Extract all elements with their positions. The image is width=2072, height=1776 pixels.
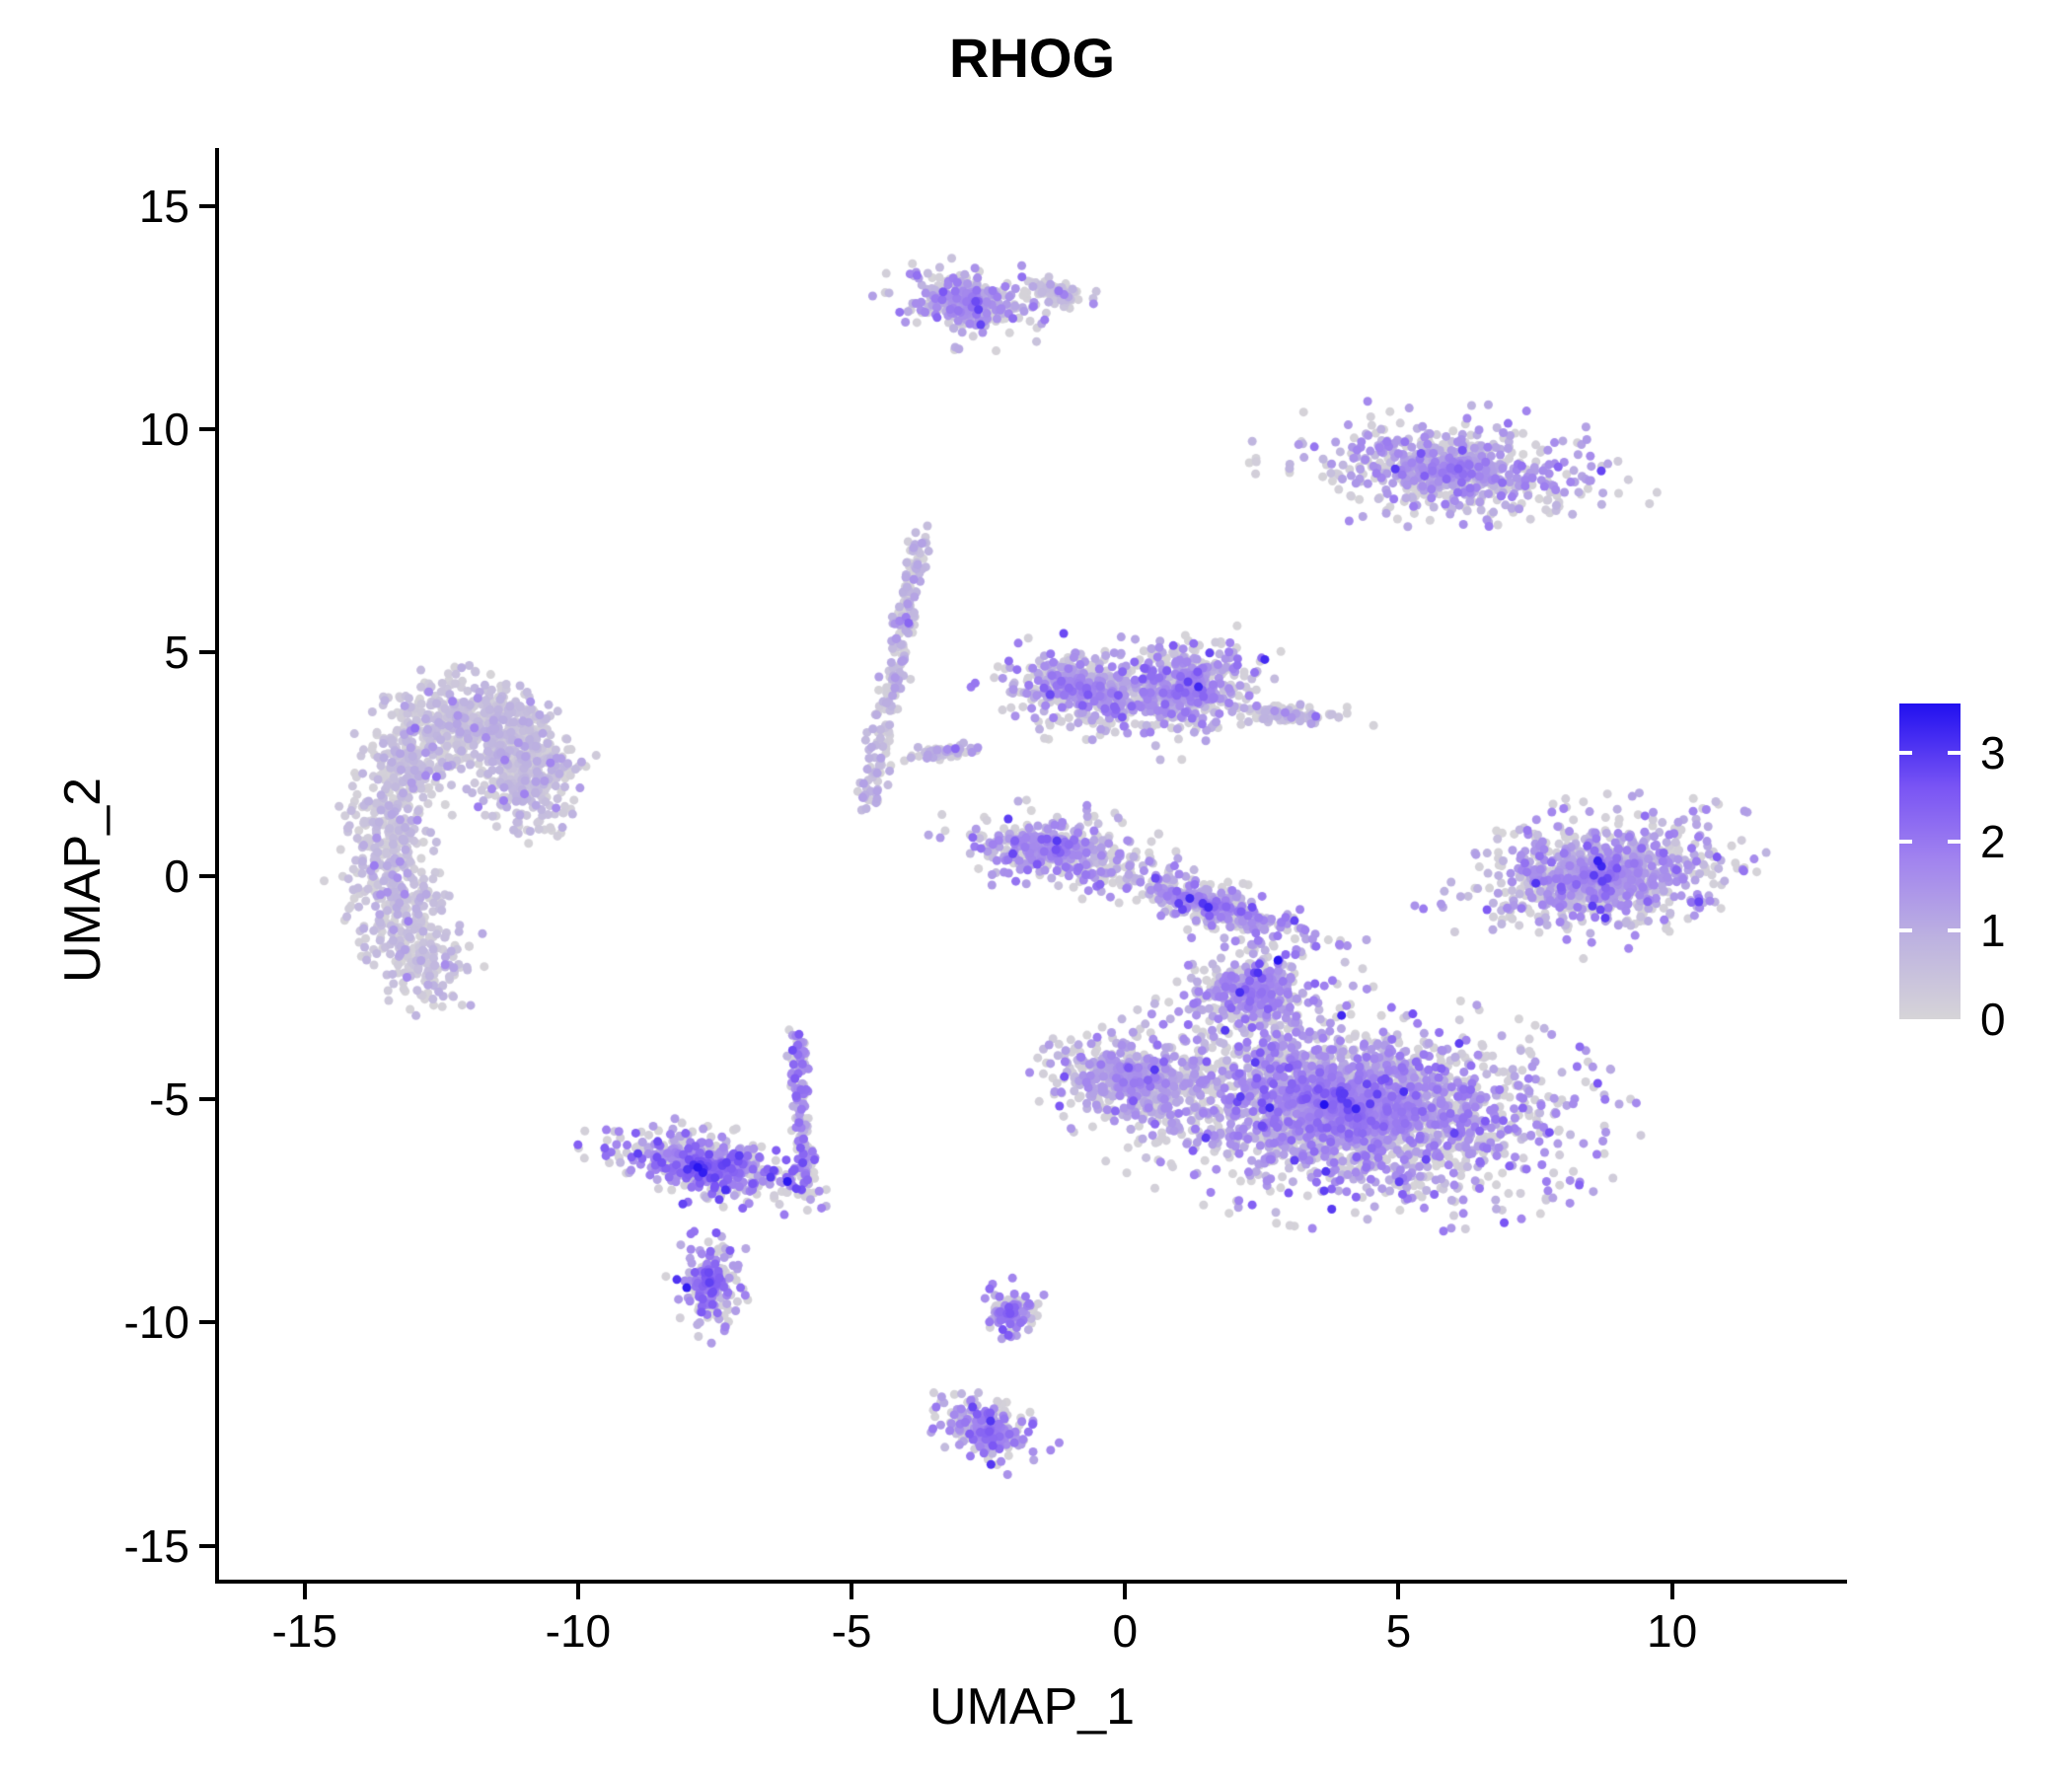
y-tick-mark [199, 204, 215, 208]
x-tick-mark [850, 1584, 853, 1599]
y-tick-label: 15 [139, 184, 189, 229]
x-tick-label: -15 [271, 1608, 336, 1654]
x-tick-mark [1670, 1584, 1674, 1599]
x-tick-label: -10 [546, 1608, 611, 1654]
colorbar-tick-label: 3 [1980, 730, 2006, 776]
x-axis-line [215, 1580, 1847, 1584]
x-tick-mark [303, 1584, 307, 1599]
colorbar-tick-label: 0 [1980, 997, 2006, 1042]
y-tick-label: -5 [149, 1076, 189, 1122]
colorbar-tick-mark [1948, 751, 1961, 755]
y-axis-line [215, 148, 219, 1584]
y-tick-label: -15 [124, 1523, 189, 1569]
scatter-points-canvas [217, 148, 1847, 1582]
colorbar-tick-mark [1899, 928, 1912, 932]
y-tick-mark [199, 1320, 215, 1324]
y-tick-label: 10 [139, 407, 189, 452]
x-tick-label: 5 [1386, 1608, 1412, 1654]
y-tick-mark [199, 1097, 215, 1101]
colorbar-tick-mark [1899, 751, 1912, 755]
x-tick-mark [1123, 1584, 1127, 1599]
x-tick-mark [576, 1584, 580, 1599]
x-tick-label: -5 [832, 1608, 872, 1654]
y-tick-mark [199, 874, 215, 878]
scatter-plot-panel [217, 148, 1847, 1582]
plot-title-wrap: RHOG [217, 26, 1847, 90]
y-axis-title: UMAP_2 [53, 485, 112, 1275]
x-tick-mark [1396, 1584, 1400, 1599]
colorbar-tick-mark [1899, 840, 1912, 844]
colorbar-legend: 0123 [1899, 703, 2057, 1029]
colorbar-tick-label: 1 [1980, 908, 2006, 953]
x-tick-label: 10 [1647, 1608, 1697, 1654]
x-tick-label: 0 [1112, 1608, 1138, 1654]
y-tick-label: -10 [124, 1299, 189, 1345]
colorbar-tick-mark [1948, 840, 1961, 844]
y-tick-mark [199, 427, 215, 431]
colorbar-tick-label: 2 [1980, 819, 2006, 864]
colorbar-tick-mark [1948, 928, 1961, 932]
page-title: RHOG [949, 27, 1115, 89]
y-tick-label: 5 [164, 629, 189, 675]
y-tick-mark [199, 1544, 215, 1548]
y-tick-mark [199, 650, 215, 654]
y-tick-label: 0 [164, 853, 189, 899]
umap-feature-plot: RHOG -15-10-5051015-15-10-50510 UMAP_1 U… [0, 0, 2072, 1776]
x-axis-title: UMAP_1 [217, 1677, 1847, 1737]
